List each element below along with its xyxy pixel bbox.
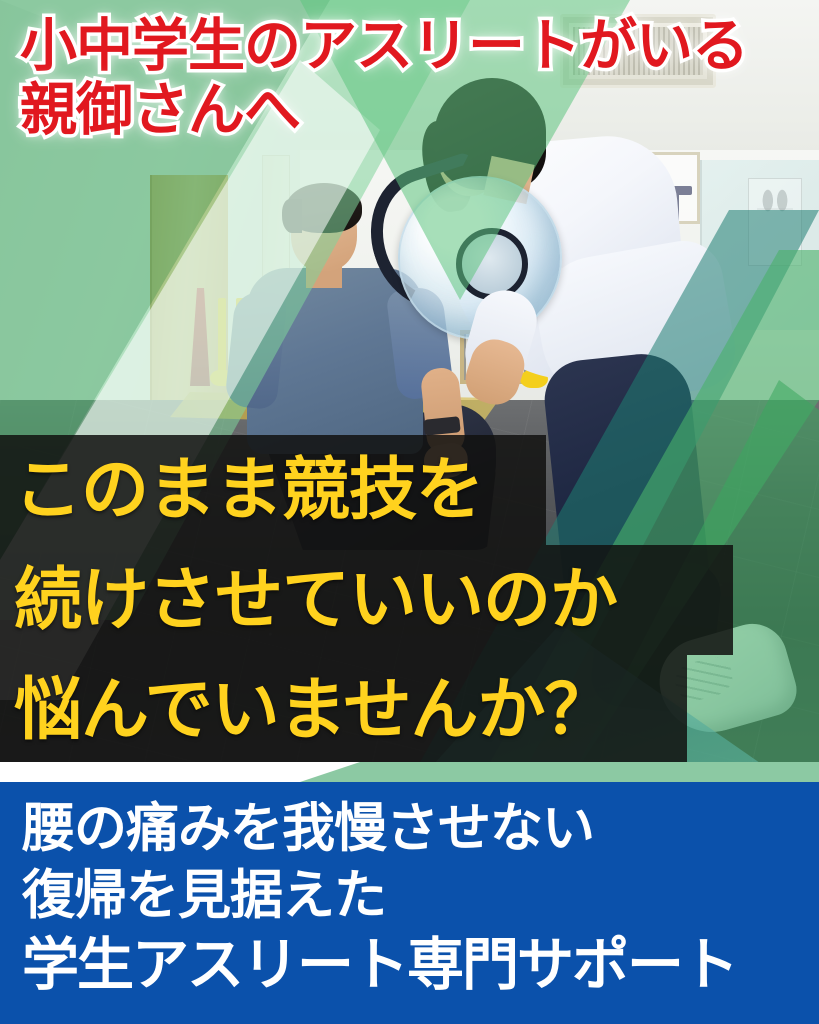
middle-message-block: このまま競技を 続けさせていいのか 悩んでいませんか？ <box>0 435 819 765</box>
ball-valve <box>456 228 528 300</box>
middle-row-2: 続けさせていいのか <box>0 545 819 655</box>
middle-text-1: このまま競技を <box>14 456 483 524</box>
middle-row-1: このまま競技を <box>0 435 819 545</box>
footer-text: 腰の痛みを我慢させない 復帰を見据えた 学生アスリート専門サポート <box>22 796 812 1001</box>
headline: 小中学生のアスリートがいる 親御さんへ <box>20 14 810 143</box>
footer-blue-panel: 腰の痛みを我慢させない 復帰を見据えた 学生アスリート専門サポート <box>0 782 819 1024</box>
footer-line-3: 学生アスリート専門サポート <box>22 930 812 1002</box>
middle-row-3: 悩んでいませんか？ <box>0 655 819 765</box>
poster-root: 小中学生のアスリートがいる 親御さんへ このまま競技を 続けさせていいのか 悩ん… <box>0 0 819 1024</box>
footer-line-2: 復帰を見据えた <box>22 863 812 930</box>
middle-text-3: 悩んでいませんか？ <box>14 676 612 744</box>
middle-text-2: 続けさせていいのか <box>14 566 617 634</box>
trainer-hair <box>286 183 362 233</box>
anatomy-poster <box>748 178 802 266</box>
headline-line-1: 小中学生のアスリートがいる <box>20 14 810 78</box>
footer-line-1: 腰の痛みを我慢させない <box>22 796 812 863</box>
headline-line-2: 親御さんへ <box>20 78 810 142</box>
